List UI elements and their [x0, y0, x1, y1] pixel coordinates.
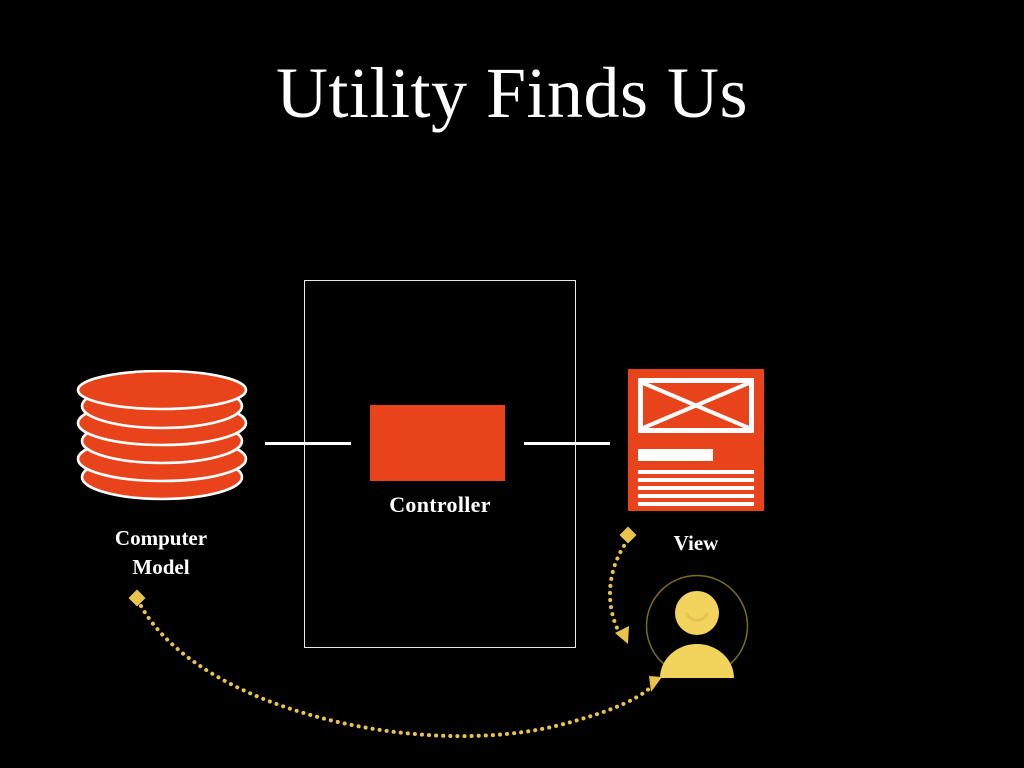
view-text-line [638, 478, 754, 482]
connector-controller-to-view [524, 442, 610, 445]
view-wireframe-icon [628, 369, 764, 511]
view-text-line [638, 470, 754, 474]
view-image-placeholder-icon [638, 378, 754, 433]
user-avatar-icon [645, 574, 749, 678]
connector-model-to-controller [265, 442, 351, 445]
controller-block-icon [370, 405, 505, 481]
model-label: Computer Model [58, 524, 264, 582]
view-text-line [638, 502, 754, 506]
view-title-bar [638, 449, 713, 461]
view-label: View [616, 531, 776, 556]
controller-label: Controller [304, 492, 576, 518]
model-label-line2: Model [132, 555, 189, 579]
view-text-line [638, 494, 754, 498]
view-text-line [638, 486, 754, 490]
page-title: Utility Finds Us [0, 56, 1024, 132]
slide-canvas: Utility Finds Us Computer Model Controll… [0, 0, 1024, 768]
database-stack-icon [76, 370, 248, 504]
model-label-line1: Computer [115, 526, 207, 550]
